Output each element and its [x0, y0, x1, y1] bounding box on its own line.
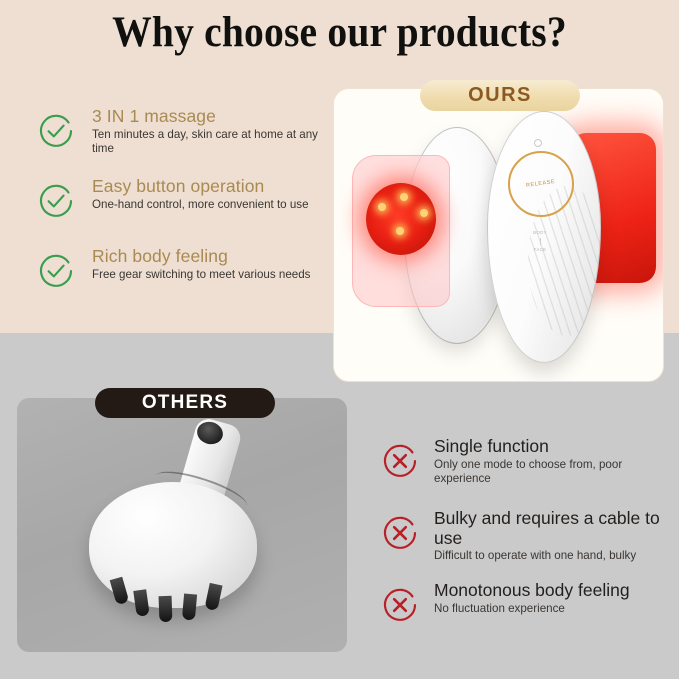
cons-item-desc: No fluctuation experience: [434, 602, 672, 617]
x-circle-icon: [380, 441, 420, 481]
check-circle-icon: [36, 251, 76, 291]
x-circle-icon: [380, 585, 420, 625]
pros-item-desc: One-hand control, more convenient to use: [92, 198, 336, 213]
cons-list: Single function Only one mode to choose …: [380, 437, 672, 653]
cons-list-item: Single function Only one mode to choose …: [380, 437, 672, 497]
pros-item-title: Easy button operation: [92, 177, 336, 197]
release-button[interactable]: RELEASE: [508, 151, 574, 217]
cons-item-text: Monotonous body feeling No fluctuation e…: [434, 581, 672, 616]
pros-list-item: Rich body feeling Free gear switching to…: [36, 247, 336, 303]
others-badge: OTHERS: [95, 388, 275, 418]
pros-item-title: 3 IN 1 massage: [92, 107, 336, 127]
pros-item-title: Rich body feeling: [92, 247, 336, 267]
device-a-led: [378, 203, 386, 211]
ours-product-card: RELEASE BODY FACE: [333, 88, 664, 382]
pros-list: 3 IN 1 massage Ten minutes a day, skin c…: [36, 107, 336, 317]
cons-item-text: Single function Only one mode to choose …: [434, 437, 672, 487]
page-title: Why choose our products?: [27, 8, 652, 57]
pros-item-text: Rich body feeling Free gear switching to…: [92, 247, 336, 282]
pros-item-desc: Free gear switching to meet various need…: [92, 268, 336, 283]
others-device-nub: [159, 596, 173, 622]
ours-device-main-unit: RELEASE BODY FACE: [482, 111, 662, 361]
cons-list-item: Monotonous body feeling No fluctuation e…: [380, 581, 672, 641]
others-device: [79, 420, 289, 645]
device-a-led: [400, 193, 408, 201]
check-circle-icon: [36, 181, 76, 221]
cons-item-text: Bulky and requires a cable to use Diffic…: [434, 509, 672, 564]
pros-list-item: 3 IN 1 massage Ten minutes a day, skin c…: [36, 107, 336, 163]
release-button-label: RELEASE: [526, 179, 556, 189]
check-circle-icon: [36, 111, 76, 151]
x-circle-icon: [380, 513, 420, 553]
cons-item-title: Single function: [434, 437, 672, 457]
device-a-led: [396, 227, 404, 235]
pros-item-text: 3 IN 1 massage Ten minutes a day, skin c…: [92, 107, 336, 157]
pros-list-item: Easy button operation One-hand control, …: [36, 177, 336, 233]
others-badge-label: OTHERS: [142, 392, 228, 414]
pros-item-text: Easy button operation One-hand control, …: [92, 177, 336, 212]
cons-item-desc: Only one mode to choose from, poor exper…: [434, 458, 672, 488]
ours-badge-label: OURS: [468, 84, 532, 107]
ours-badge: OURS: [420, 80, 580, 111]
pros-item-desc: Ten minutes a day, skin care at home at …: [92, 128, 336, 158]
device-a-led: [420, 209, 428, 217]
mode-divider: [540, 238, 541, 245]
cons-item-desc: Difficult to operate with one hand, bulk…: [434, 549, 672, 564]
others-device-nub: [182, 593, 197, 620]
others-product-card: [17, 398, 347, 652]
mode-bottom-label: FACE: [534, 247, 547, 252]
cons-item-title: Monotonous body feeling: [434, 581, 672, 601]
cons-item-title: Bulky and requires a cable to use: [434, 509, 672, 548]
device-b-indicator-light: [534, 139, 542, 147]
cons-list-item: Bulky and requires a cable to use Diffic…: [380, 509, 672, 569]
mode-top-label: BODY: [533, 230, 547, 235]
device-b-mode-indicator: BODY FACE: [520, 229, 560, 255]
